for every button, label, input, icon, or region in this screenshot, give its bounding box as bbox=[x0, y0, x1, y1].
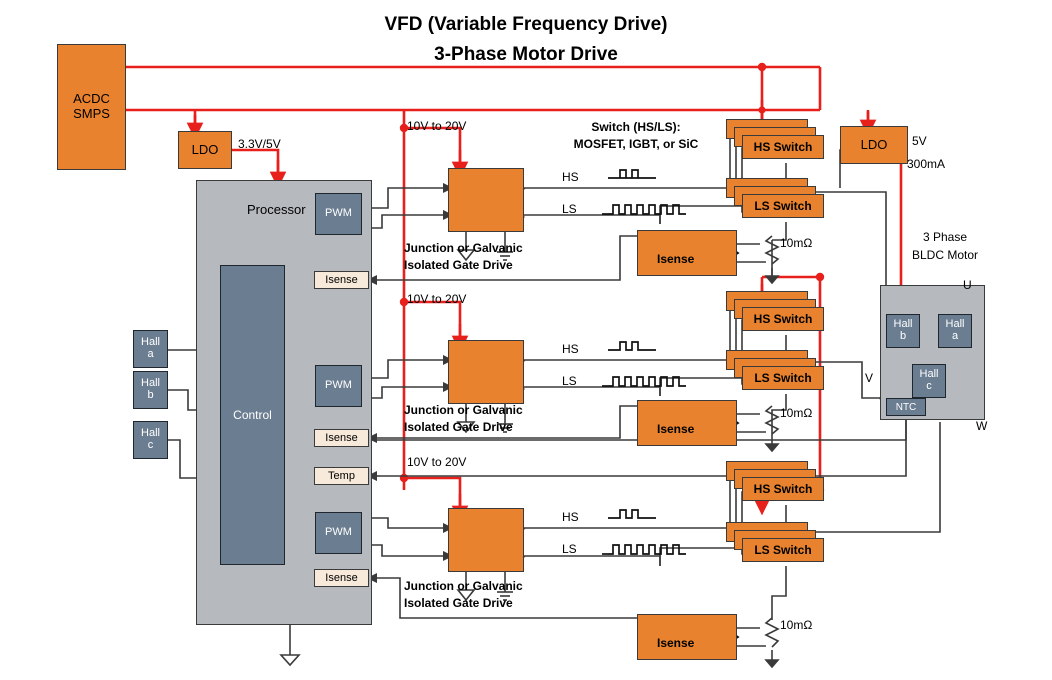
motor-name-line2: BLDC Motor bbox=[880, 248, 1010, 262]
acdc-smps-label-line1: ACDC bbox=[73, 92, 110, 107]
hs-switch-label-3: HS Switch bbox=[754, 482, 813, 496]
gate-drive-caption-3-line2: Isolated Gate Drive bbox=[404, 596, 513, 610]
hs-waveform-2 bbox=[608, 342, 656, 350]
ls-label-1: LS bbox=[562, 202, 577, 216]
switch-note-line2: MOSFET, IGBT, or SiC bbox=[546, 137, 726, 151]
motor-hall-sensor-b[interactable]: Hall b bbox=[886, 314, 920, 348]
ls-label-2: LS bbox=[562, 374, 577, 388]
ls-switch-stack-3[interactable]: LS Switch bbox=[726, 522, 836, 572]
gate-drive-caption-2-line2: Isolated Gate Drive bbox=[404, 420, 513, 434]
gate-rail-label-3: 10V to 20V bbox=[407, 455, 466, 469]
ls-label-3: LS bbox=[562, 542, 577, 556]
motor-hall-sensor-a[interactable]: Hall a bbox=[938, 314, 972, 348]
gate-rail-label-1: 10V to 20V bbox=[407, 119, 466, 133]
shunt-label-2: 10mΩ bbox=[780, 406, 812, 420]
ldo-left-output-label: 3.3V/5V bbox=[238, 137, 281, 151]
shunt-label-1: 10mΩ bbox=[780, 236, 812, 250]
isense-port-label-3: Isense bbox=[325, 572, 357, 584]
gate-drive-caption-1-line1: Junction or Galvanic bbox=[404, 241, 523, 255]
motor-name-line1: 3 Phase bbox=[890, 230, 1000, 244]
gate-drive-block-1[interactable] bbox=[448, 168, 524, 232]
opamp-signs bbox=[700, 244, 710, 651]
diagram-canvas: VFD (Variable Frequency Drive) 3-Phase M… bbox=[0, 0, 1052, 680]
page-title-line1: VFD (Variable Frequency Drive) bbox=[0, 14, 1052, 36]
hall-sensor-input-b[interactable]: Hall b bbox=[133, 371, 168, 409]
hs-switch-front-2[interactable]: HS Switch bbox=[742, 307, 824, 331]
hs-switch-front-3[interactable]: HS Switch bbox=[742, 477, 824, 501]
shunt-label-3: 10mΩ bbox=[780, 618, 812, 632]
ldo-right-output-line1: 5V bbox=[912, 134, 927, 148]
gate-drive-block-3[interactable] bbox=[448, 508, 524, 572]
control-label: Control bbox=[233, 408, 272, 422]
motor-hall-b-line2: b bbox=[900, 331, 906, 343]
motor-hall-a-line2: a bbox=[952, 331, 958, 343]
pwm-label-2: PWM bbox=[325, 380, 352, 392]
isense-port-3[interactable]: Isense bbox=[314, 569, 369, 587]
hs-switch-stack-1[interactable]: HS Switch bbox=[726, 119, 836, 169]
ls-switch-label-3: LS Switch bbox=[754, 543, 811, 557]
hs-switch-label-1: HS Switch bbox=[754, 140, 813, 154]
gate-drive-caption-3-line1: Junction or Galvanic bbox=[404, 579, 523, 593]
hs-switch-label-2: HS Switch bbox=[754, 312, 813, 326]
temp-port-label: Temp bbox=[328, 470, 355, 482]
ls-switch-front-3[interactable]: LS Switch bbox=[742, 538, 824, 562]
hs-waveform-3 bbox=[608, 510, 656, 518]
hall-b-label-line2: b bbox=[147, 390, 153, 402]
hs-switch-front-1[interactable]: HS Switch bbox=[742, 135, 824, 159]
ldo-left-block[interactable]: LDO bbox=[178, 131, 232, 169]
temp-port[interactable]: Temp bbox=[314, 467, 369, 485]
ls-waveform-2 bbox=[602, 377, 686, 386]
ls-waveform-1 bbox=[602, 205, 686, 214]
hs-label-2: HS bbox=[562, 342, 579, 356]
isense-port-1[interactable]: Isense bbox=[314, 271, 369, 289]
isense-block-label-3: Isense bbox=[657, 636, 694, 650]
hall-a-label-line2: a bbox=[147, 349, 153, 361]
isense-block-label-2: Isense bbox=[657, 422, 694, 436]
gate-drive-caption-2-line1: Junction or Galvanic bbox=[404, 403, 523, 417]
ls-switch-label-1: LS Switch bbox=[754, 199, 811, 213]
ls-switch-front-1[interactable]: LS Switch bbox=[742, 194, 824, 218]
gate-drive-block-2[interactable] bbox=[448, 340, 524, 404]
pwm-label-3: PWM bbox=[325, 527, 352, 539]
ntc-sensor-block[interactable]: NTC bbox=[886, 398, 926, 416]
phase-v-label: V bbox=[865, 371, 873, 385]
motor-hall-c-line2: c bbox=[926, 381, 932, 393]
hs-label-3: HS bbox=[562, 510, 579, 524]
hs-switch-stack-2[interactable]: HS Switch bbox=[726, 291, 836, 341]
pwm-block-1[interactable]: PWM bbox=[315, 193, 362, 235]
hs-switch-stack-3[interactable]: HS Switch bbox=[726, 461, 836, 511]
ntc-label: NTC bbox=[896, 402, 917, 413]
gate-rail-label-2: 10V to 20V bbox=[407, 292, 466, 306]
acdc-smps-block[interactable]: ACDC SMPS bbox=[57, 44, 126, 170]
acdc-smps-label-line2: SMPS bbox=[73, 107, 110, 122]
hall-c-label-line2: c bbox=[148, 440, 154, 452]
isense-port-2[interactable]: Isense bbox=[314, 429, 369, 447]
ldo-right-block[interactable]: LDO bbox=[840, 126, 908, 164]
ldo-right-label: LDO bbox=[861, 138, 888, 153]
gate-drive-caption-1-line2: Isolated Gate Drive bbox=[404, 258, 513, 272]
ls-switch-front-2[interactable]: LS Switch bbox=[742, 366, 824, 390]
hs-label-1: HS bbox=[562, 170, 579, 184]
ls-switch-label-2: LS Switch bbox=[754, 371, 811, 385]
pwm-block-3[interactable]: PWM bbox=[315, 512, 362, 554]
processor-label: Processor bbox=[247, 202, 306, 217]
hs-waveform-1 bbox=[608, 170, 656, 178]
ls-switch-stack-2[interactable]: LS Switch bbox=[726, 350, 836, 400]
phase-u-label: U bbox=[963, 278, 972, 292]
ls-switch-stack-1[interactable]: LS Switch bbox=[726, 178, 836, 228]
isense-port-label-1: Isense bbox=[325, 274, 357, 286]
ldo-left-label: LDO bbox=[192, 143, 219, 158]
isense-block-label-1: Isense bbox=[657, 252, 694, 266]
hall-sensor-input-c[interactable]: Hall c bbox=[133, 421, 168, 459]
phase-w-label: W bbox=[976, 419, 987, 433]
page-title-line2: 3-Phase Motor Drive bbox=[0, 44, 1052, 66]
isense-port-label-2: Isense bbox=[325, 432, 357, 444]
ls-waveform-3 bbox=[602, 545, 686, 554]
motor-hall-sensor-c[interactable]: Hall c bbox=[912, 364, 946, 398]
switch-note-line1: Switch (HS/LS): bbox=[556, 120, 716, 134]
ldo-right-output-line2: 300mA bbox=[907, 157, 945, 171]
pwm-label-1: PWM bbox=[325, 208, 352, 220]
pwm-block-2[interactable]: PWM bbox=[315, 365, 362, 407]
hall-sensor-input-a[interactable]: Hall a bbox=[133, 330, 168, 368]
control-block[interactable]: Control bbox=[220, 265, 285, 565]
waveform-glyphs bbox=[602, 170, 686, 554]
